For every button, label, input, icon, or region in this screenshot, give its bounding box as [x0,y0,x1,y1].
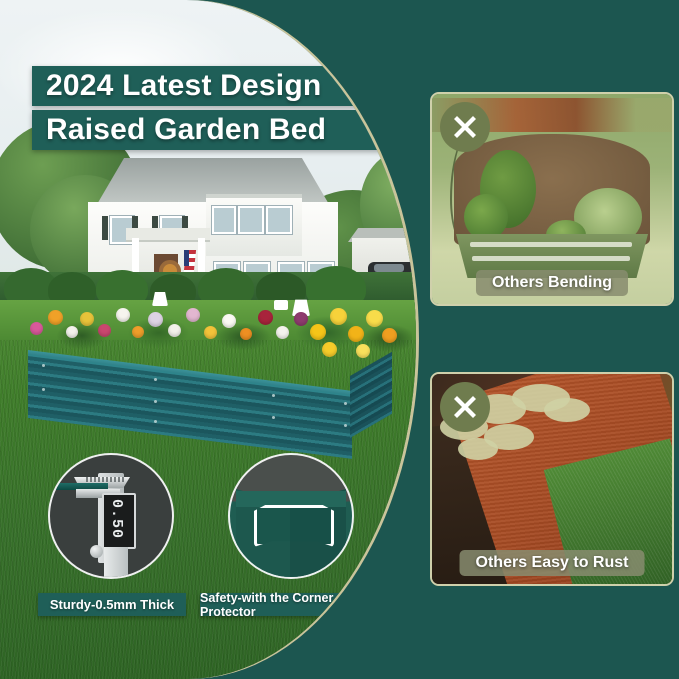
flower [310,324,326,340]
caption-rust: Others Easy to Rust [460,550,645,576]
caption-bending: Others Bending [476,270,628,296]
window [212,206,236,234]
flower [204,326,217,339]
caliper-scale [104,547,128,577]
flower [30,322,43,335]
rivet [154,378,157,381]
caliper-thumb-wheel [90,545,103,558]
flower [186,308,200,322]
flower [148,312,163,327]
rivet [272,394,275,397]
feature-label-sturdy: Sturdy-0.5mm Thick [38,593,186,616]
shutter [102,216,108,240]
flower [66,326,78,338]
flower [98,324,111,337]
feature-icon-safety [228,453,354,579]
caliper-brand-text [86,477,126,482]
foliage [458,438,498,460]
foliage [544,398,590,422]
rivet [154,400,157,403]
comparison-panel-bending: Others Bending [430,92,674,306]
wall-rib [470,242,632,247]
corner-protector-bracket [254,505,334,547]
window [266,206,292,234]
caliper-icon: 0.50 [68,467,156,565]
rivet [42,388,45,391]
vegetable-plant [464,194,508,240]
flower [240,328,252,340]
infographic-canvas: 2024 Latest Design Raised Garden Bed 0.5… [0,0,679,679]
flower [366,310,383,327]
flower [276,326,289,339]
raised-bed [28,340,392,426]
rivet [42,364,45,367]
comparison-panel-rust: Others Easy to Rust [430,372,674,586]
flower [222,314,236,328]
corner-protector-icon [230,455,352,577]
page-title-line-2: Raised Garden Bed [32,110,386,150]
flower [168,324,181,337]
caliper-reading: 0.50 [95,506,139,532]
flower [48,310,63,325]
bed-corner-top [236,491,346,507]
flower [294,312,308,326]
rivet [344,402,347,405]
rivet [272,416,275,419]
flower [132,326,144,338]
window [238,206,264,234]
x-mark-icon [440,382,490,432]
wall-rib [472,256,630,261]
bed-right-wall [350,352,392,438]
flag-canton [184,250,189,266]
flower [258,310,273,325]
feature-label-safety: Safety-with the Corner Protector [200,593,384,616]
bending-garden-bed [454,134,650,274]
page-title-line-1: 2024 Latest Design [32,66,398,106]
raised-garden-bed-group [12,296,408,432]
x-mark-icon [440,102,490,152]
flower [116,308,130,322]
rivet [154,420,157,423]
feature-icon-sturdy: 0.50 [48,453,174,579]
hero-panel: 2024 Latest Design Raised Garden Bed 0.5… [0,0,416,679]
flower [330,308,347,325]
rivet [344,424,347,427]
flower [80,312,94,326]
car-window [374,264,404,272]
